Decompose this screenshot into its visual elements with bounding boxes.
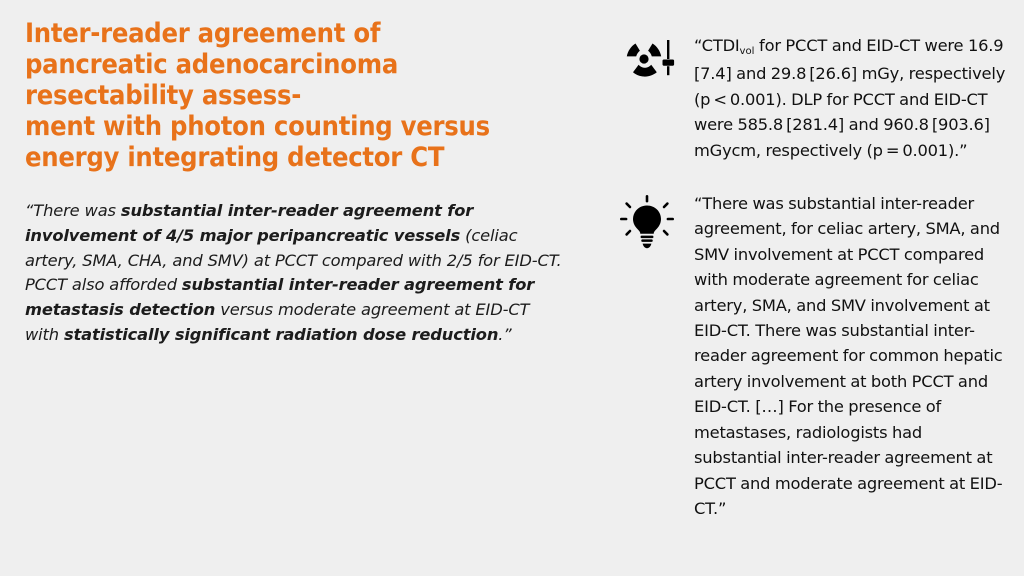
radiation-dose-icon-cell <box>600 33 694 87</box>
quote-block-radiation-dose: “CTDIvol for PCCT and EID-CT were 16.9 [… <box>600 33 1010 163</box>
slide-canvas: Inter-reader agreement of pancreatic ade… <box>0 0 1024 576</box>
left-column: Inter-reader agreement of pancreatic ade… <box>25 18 565 348</box>
page-title: Inter-reader agreement of pancreatic ade… <box>25 18 522 173</box>
right-column: “CTDIvol for PCCT and EID-CT were 16.9 [… <box>600 33 1010 549</box>
conclusion-quote: “There was substantial inter-reader agre… <box>694 191 1010 521</box>
radiation-dose-icon <box>618 37 676 87</box>
lightbulb-icon <box>620 195 674 253</box>
key-findings-summary: “There was substantial inter-reader agre… <box>25 199 565 348</box>
radiation-dose-quote: “CTDIvol for PCCT and EID-CT were 16.9 [… <box>694 33 1010 163</box>
lightbulb-icon-cell <box>600 191 694 253</box>
quote-block-conclusion: “There was substantial inter-reader agre… <box>600 191 1010 521</box>
